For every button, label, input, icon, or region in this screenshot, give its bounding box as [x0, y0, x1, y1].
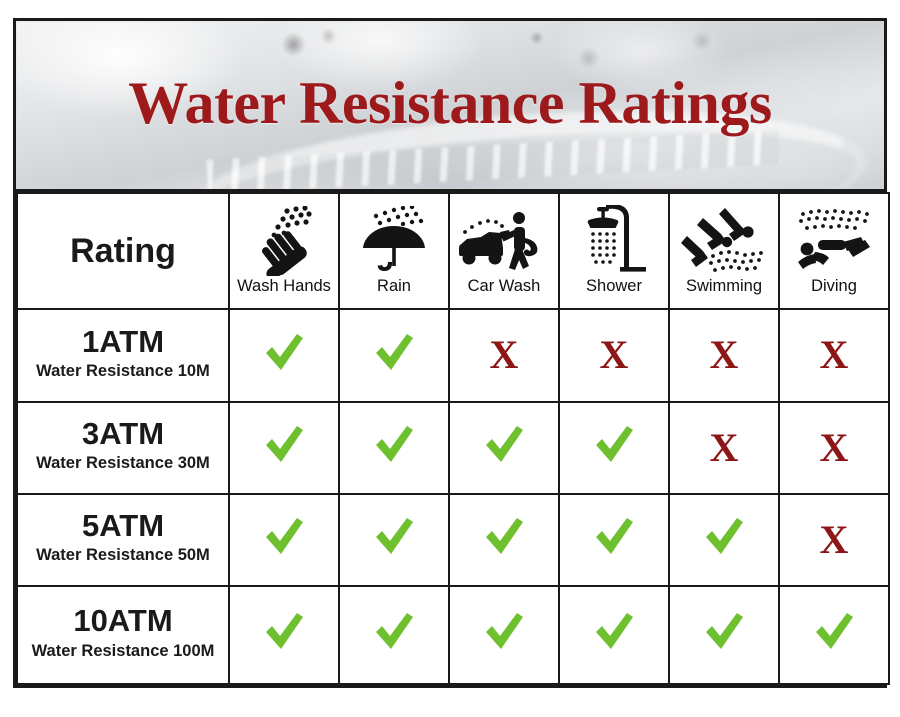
mark-cell-diving: X — [779, 494, 889, 586]
cross-icon: X — [710, 428, 739, 468]
rating-atm-label: 3ATM — [22, 418, 224, 450]
column-header-car-wash: Car Wash — [449, 193, 559, 309]
mark-cell-car-wash — [449, 494, 559, 586]
mark-cell-swimming — [669, 586, 779, 684]
cross-icon: X — [600, 335, 629, 375]
water-resistance-chart: Water Resistance Ratings Rating — [13, 18, 887, 688]
page-title: Water Resistance Ratings — [16, 69, 884, 138]
table-header-row: Rating — [17, 193, 889, 309]
mark-cell-car-wash — [449, 402, 559, 494]
mark-cell-diving: X — [779, 402, 889, 494]
column-header-label: Shower — [586, 278, 642, 297]
ratings-table: Rating — [16, 192, 890, 685]
washing-hands-icon — [251, 204, 317, 278]
rating-depth-label: Water Resistance 50M — [22, 546, 224, 564]
car-wash-icon — [457, 204, 551, 278]
check-icon — [372, 516, 416, 562]
cross-icon: X — [820, 428, 849, 468]
check-icon — [482, 611, 526, 657]
cross-icon: X — [820, 335, 849, 375]
mark-cell-rain — [339, 309, 449, 401]
rating-atm-label: 1ATM — [22, 326, 224, 358]
column-header-label: Diving — [811, 278, 857, 297]
check-icon — [702, 611, 746, 657]
check-icon — [592, 611, 636, 657]
mark-cell-wash-hands — [229, 309, 339, 401]
shower-head-icon — [576, 204, 652, 278]
table-row-1atm: 1ATM Water Resistance 10M X — [17, 309, 889, 401]
mark-cell-wash-hands — [229, 586, 339, 684]
cross-icon: X — [490, 335, 519, 375]
rating-depth-label: Water Resistance 100M — [22, 642, 224, 660]
swimming-icon — [681, 204, 767, 278]
mark-cell-shower — [559, 494, 669, 586]
column-header-label: Car Wash — [468, 278, 541, 297]
column-header-label: Wash Hands — [237, 278, 331, 297]
table-row-5atm: 5ATM Water Resistance 50M — [17, 494, 889, 586]
check-icon — [482, 424, 526, 470]
mark-cell-rain — [339, 494, 449, 586]
cross-icon: X — [710, 335, 739, 375]
mark-cell-diving: X — [779, 309, 889, 401]
column-header-shower: Shower — [559, 193, 669, 309]
mark-cell-wash-hands — [229, 494, 339, 586]
umbrella-rain-icon — [358, 204, 430, 278]
mark-cell-car-wash — [449, 586, 559, 684]
mark-cell-shower — [559, 586, 669, 684]
mark-cell-rain — [339, 586, 449, 684]
check-icon — [702, 516, 746, 562]
check-icon — [262, 424, 306, 470]
rating-atm-label: 10ATM — [22, 605, 224, 637]
check-icon — [262, 611, 306, 657]
mark-cell-swimming: X — [669, 309, 779, 401]
check-icon — [372, 611, 416, 657]
check-icon — [482, 516, 526, 562]
column-header-diving: Diving — [779, 193, 889, 309]
rating-header-label: Rating — [18, 232, 228, 271]
rating-cell: 3ATM Water Resistance 30M — [17, 402, 229, 494]
cross-icon: X — [820, 520, 849, 560]
diving-icon — [791, 204, 877, 278]
mark-cell-diving — [779, 586, 889, 684]
mark-cell-wash-hands — [229, 402, 339, 494]
mark-cell-shower — [559, 402, 669, 494]
check-icon — [812, 611, 856, 657]
mark-cell-swimming: X — [669, 402, 779, 494]
rating-atm-label: 5ATM — [22, 510, 224, 542]
rating-header-cell: Rating — [17, 193, 229, 309]
table-row-3atm: 3ATM Water Resistance 30M — [17, 402, 889, 494]
mark-cell-car-wash: X — [449, 309, 559, 401]
column-header-label: Rain — [377, 278, 411, 297]
rating-cell: 10ATM Water Resistance 100M — [17, 586, 229, 684]
check-icon — [262, 516, 306, 562]
column-header-rain: Rain — [339, 193, 449, 309]
rating-cell: 5ATM Water Resistance 50M — [17, 494, 229, 586]
check-icon — [372, 424, 416, 470]
column-header-wash-hands: Wash Hands — [229, 193, 339, 309]
mark-cell-rain — [339, 402, 449, 494]
table-row-10atm: 10ATM Water Resistance 100M — [17, 586, 889, 684]
check-icon — [262, 332, 306, 378]
rating-cell: 1ATM Water Resistance 10M — [17, 309, 229, 401]
banner: Water Resistance Ratings — [16, 21, 884, 192]
rating-depth-label: Water Resistance 30M — [22, 454, 224, 472]
check-icon — [372, 332, 416, 378]
column-header-swimming: Swimming — [669, 193, 779, 309]
rating-depth-label: Water Resistance 10M — [22, 362, 224, 380]
mark-cell-swimming — [669, 494, 779, 586]
check-icon — [592, 516, 636, 562]
check-icon — [592, 424, 636, 470]
column-header-label: Swimming — [686, 278, 762, 297]
mark-cell-shower: X — [559, 309, 669, 401]
